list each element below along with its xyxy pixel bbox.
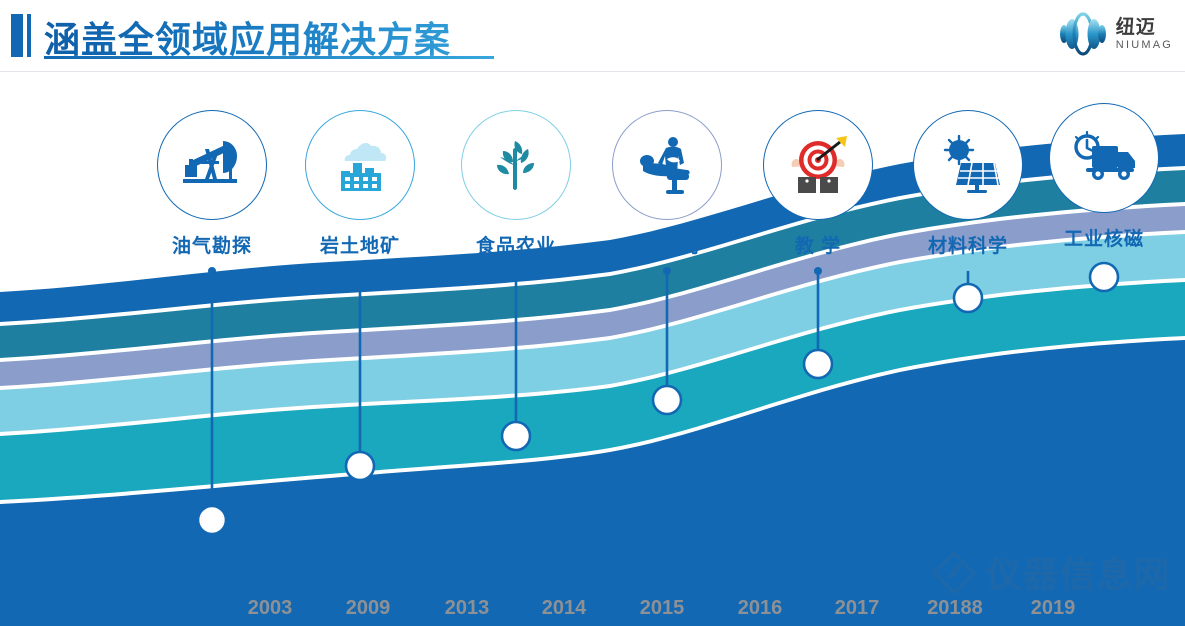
surgery-patient-icon — [633, 135, 701, 195]
category-circle-lifescience[interactable] — [612, 110, 722, 220]
category-node-foodagri[interactable]: 食品农业 — [461, 110, 571, 258]
category-label-lifescience: 生命科学 — [612, 231, 722, 258]
target-dart-hands-icon — [784, 135, 852, 195]
plant-leaf-icon — [486, 135, 546, 195]
site-watermark: 仪器信息网 — [932, 547, 1171, 598]
logo-name-cn: 纽迈 — [1116, 18, 1173, 37]
category-circle-geology[interactable] — [305, 110, 415, 220]
logo-name-en: NIUMAG — [1116, 40, 1173, 51]
category-label-foodagri: 食品农业 — [461, 231, 571, 258]
year-label-2015: 2015 — [622, 597, 702, 620]
page-header: 涵盖全领域应用解决方案 纽迈 NIUMAG — [0, 0, 1185, 72]
title-accent-bars — [11, 14, 31, 57]
year-label-2009: 2009 — [328, 597, 408, 620]
watermark-text: 仪器信息网 — [986, 547, 1171, 598]
brand-logo: 纽迈 NIUMAG — [1057, 12, 1173, 56]
solar-panel-sun-icon — [935, 135, 1001, 195]
accent-bar-thin — [27, 14, 31, 57]
wave-circles-logo-icon — [1057, 12, 1109, 56]
category-circle-materials[interactable] — [913, 110, 1023, 220]
truck-clock-icon — [1070, 130, 1138, 186]
logo-text: 纽迈 NIUMAG — [1116, 18, 1173, 51]
category-node-oilgas[interactable]: 油气勘探 — [157, 110, 267, 258]
year-label-20188: 20188 — [910, 597, 1000, 620]
diamond-logo-icon — [932, 551, 978, 595]
category-label-education: 教 学 — [763, 231, 873, 258]
year-label-2017: 2017 — [817, 597, 897, 620]
category-circle-industrial-nmr[interactable] — [1049, 103, 1159, 213]
category-circle-education[interactable] — [763, 110, 873, 220]
year-label-2003: 2003 — [230, 597, 310, 620]
oil-pumpjack-icon — [179, 135, 245, 195]
category-node-lifescience[interactable]: 生命科学 — [612, 110, 722, 258]
year-label-2013: 2013 — [427, 597, 507, 620]
accent-bar-thick — [11, 14, 23, 57]
category-circle-oilgas[interactable] — [157, 110, 267, 220]
category-node-education[interactable]: 教 学 — [763, 110, 873, 258]
category-label-oilgas: 油气勘探 — [157, 231, 267, 258]
category-label-industrial-nmr: 工业核磁 — [1049, 224, 1159, 251]
year-label-2016: 2016 — [720, 597, 800, 620]
category-node-industrial-nmr[interactable]: 工业核磁 — [1049, 103, 1159, 251]
category-label-geology: 岩土地矿 — [305, 231, 415, 258]
page-title-underline — [44, 56, 494, 59]
category-label-materials: 材料科学 — [913, 231, 1023, 258]
category-node-geology[interactable]: 岩土地矿 — [305, 110, 415, 258]
category-circle-foodagri[interactable] — [461, 110, 571, 220]
factory-icon — [327, 135, 393, 195]
year-label-2014: 2014 — [524, 597, 604, 620]
year-label-2019: 2019 — [1013, 597, 1093, 620]
category-node-materials[interactable]: 材料科学 — [913, 110, 1023, 258]
